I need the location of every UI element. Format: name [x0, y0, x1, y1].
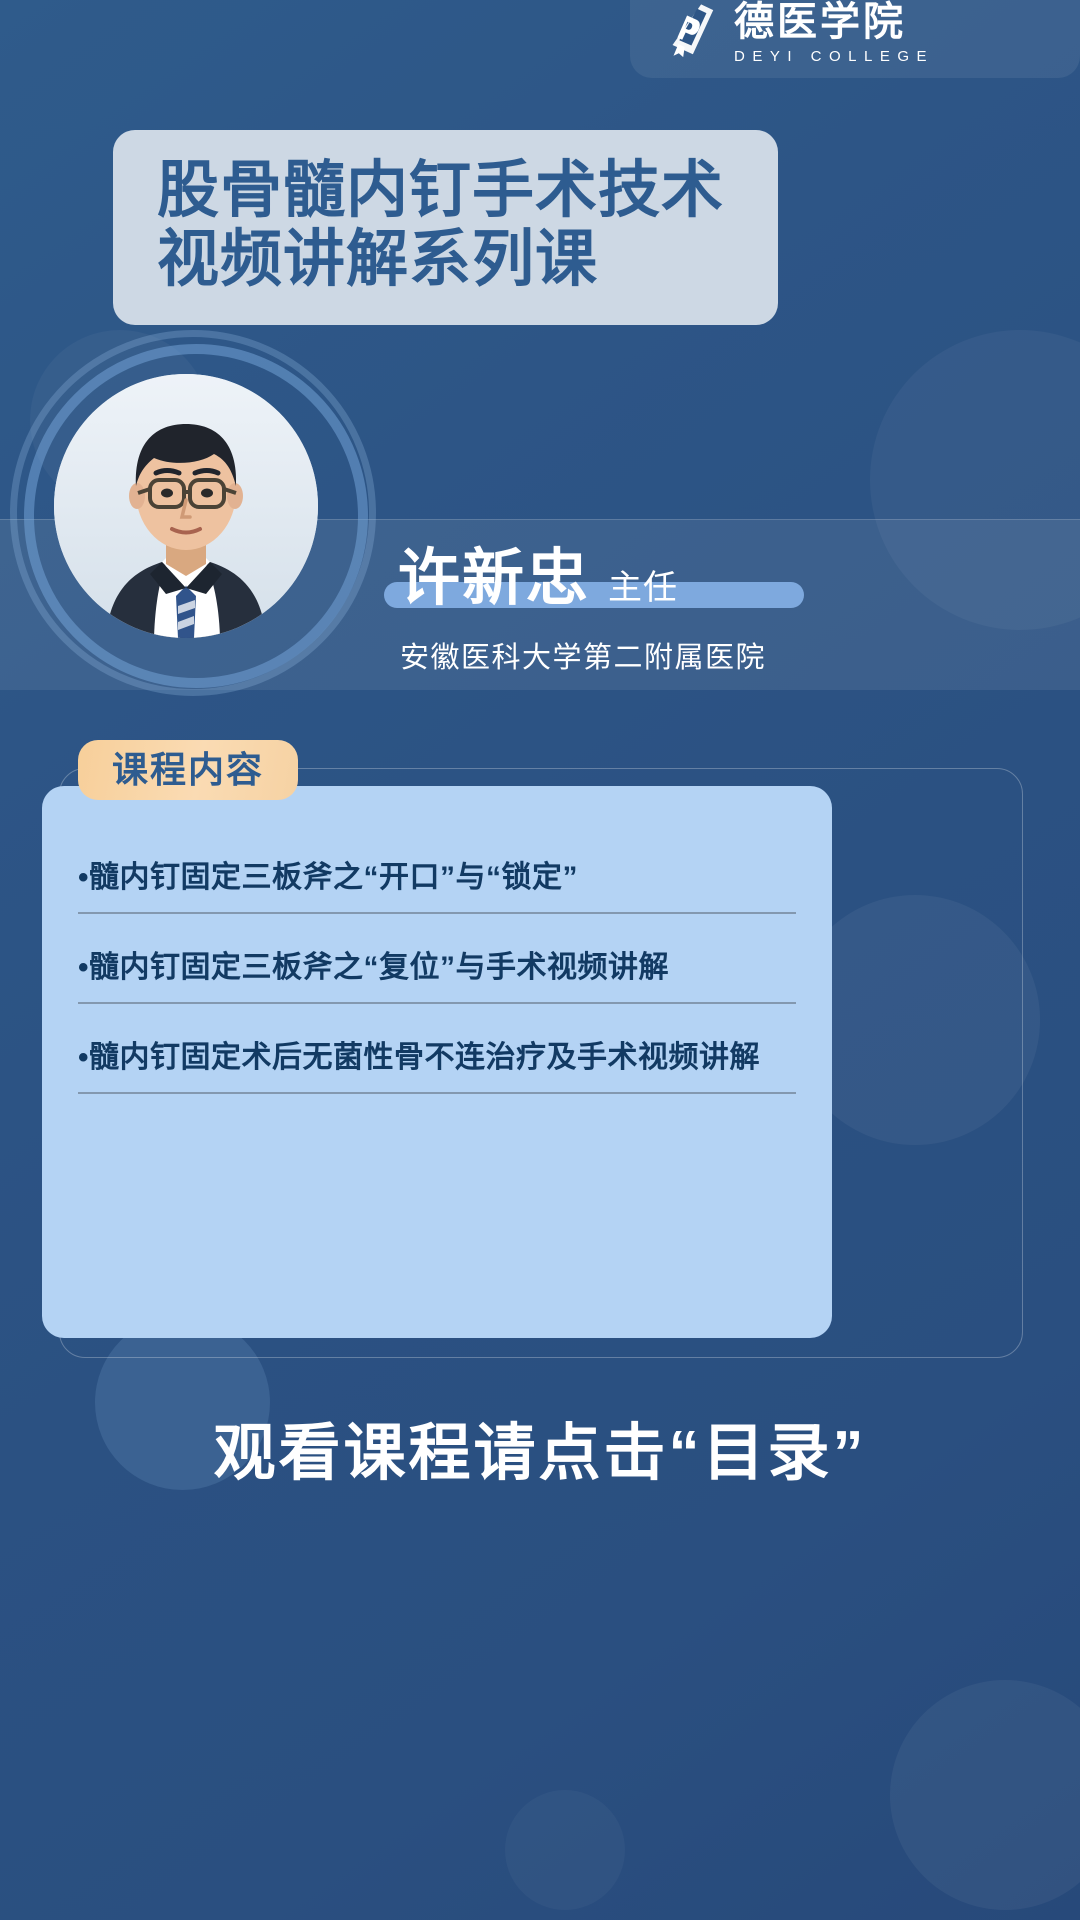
course-item-label-1: 髓内钉固定三板斧之“开口”与“锁定”	[89, 861, 578, 894]
course-item-text-1: •髓内钉固定三板斧之“开口”与“锁定”	[78, 860, 796, 896]
list-item[interactable]: •髓内钉固定三板斧之“开口”与“锁定”	[78, 838, 796, 928]
item-divider	[78, 912, 796, 914]
avatar-rings	[10, 330, 370, 690]
course-content-badge: 课程内容	[78, 740, 298, 800]
course-title-box: 股骨髓内钉手术技术 视频讲解系列课	[113, 130, 778, 325]
bullet-icon: •	[78, 861, 89, 894]
poster-root: 德医学院 DEYI COLLEGE 股骨髓内钉手术技术 视频讲解系列课	[0, 0, 1080, 1920]
speaker-role: 主任	[608, 571, 678, 610]
speaker-name-row: 许新忠 主任	[398, 548, 678, 610]
list-item[interactable]: •髓内钉固定术后无菌性骨不连治疗及手术视频讲解	[78, 1018, 796, 1108]
speaker-name-wrap: 许新忠	[398, 548, 590, 610]
brand-name-en: DEYI COLLEGE	[734, 49, 934, 64]
item-divider	[78, 1002, 796, 1004]
brand-logo[interactable]: 德医学院 DEYI COLLEGE	[630, 0, 1080, 78]
bullet-icon: •	[78, 1041, 89, 1074]
bullet-icon: •	[78, 951, 89, 984]
brand-text: 德医学院 DEYI COLLEGE	[734, 2, 934, 64]
book-d-icon	[658, 0, 720, 62]
speaker-affiliation: 安徽医科大学第二附属医院	[400, 634, 766, 676]
course-item-label-2: 髓内钉固定三板斧之“复位”与手术视频讲解	[89, 951, 669, 984]
course-title-line-2: 视频讲解系列课	[157, 225, 744, 294]
course-item-label-3: 髓内钉固定术后无菌性骨不连治疗及手术视频讲解	[89, 1041, 760, 1074]
item-divider	[78, 1092, 796, 1094]
course-item-text-3: •髓内钉固定术后无菌性骨不连治疗及手术视频讲解	[78, 1040, 796, 1076]
cta-text: 观看课程请点击“目录”	[0, 1402, 1080, 1492]
speaker-name: 许新忠	[398, 544, 590, 613]
course-item-text-2: •髓内钉固定三板斧之“复位”与手术视频讲解	[78, 950, 796, 986]
course-item-list: •髓内钉固定三板斧之“开口”与“锁定” •髓内钉固定三板斧之“复位”与手术视频讲…	[78, 838, 796, 1108]
brand-name-cn: 德医学院	[734, 2, 934, 42]
list-item[interactable]: •髓内钉固定三板斧之“复位”与手术视频讲解	[78, 928, 796, 1018]
decor-circle-6	[505, 1790, 625, 1910]
avatar	[54, 374, 318, 638]
decor-circle-5	[890, 1680, 1080, 1910]
course-title-line-1: 股骨髓内钉手术技术	[157, 156, 744, 225]
